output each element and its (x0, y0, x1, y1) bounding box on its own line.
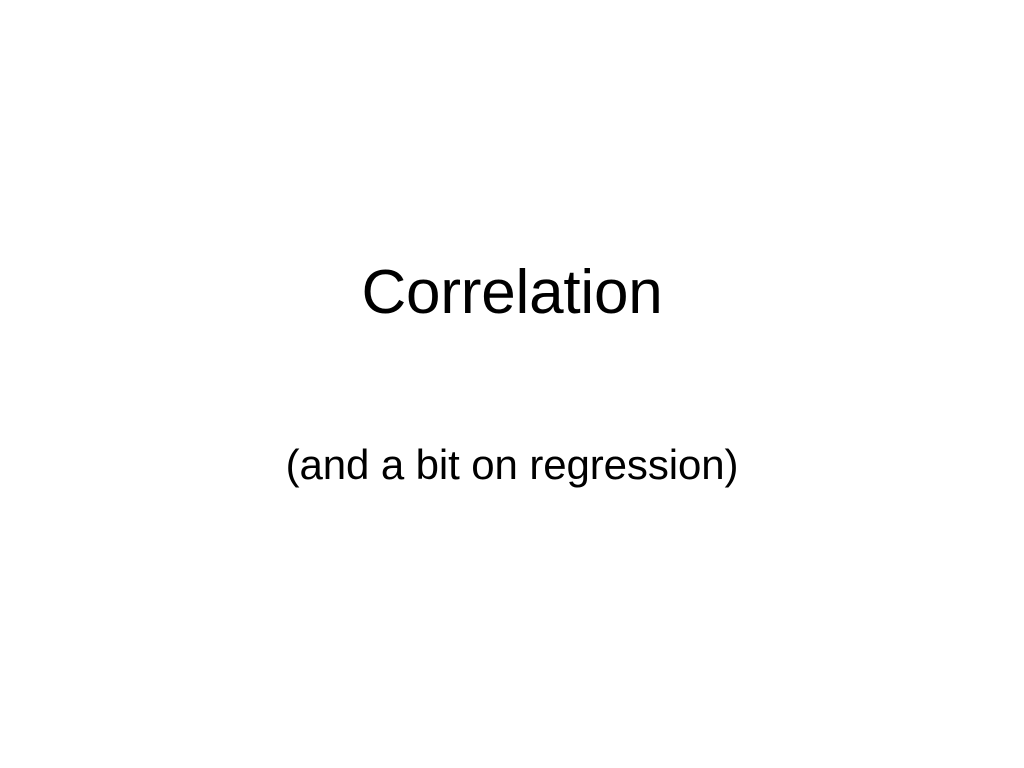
title-slide: Correlation (and a bit on regression) (0, 0, 1024, 768)
slide-subtitle: (and a bit on regression) (0, 444, 1024, 486)
page-title: Correlation (0, 262, 1024, 324)
title-placeholder: Correlation (0, 262, 1024, 324)
subtitle-placeholder: (and a bit on regression) (0, 444, 1024, 486)
